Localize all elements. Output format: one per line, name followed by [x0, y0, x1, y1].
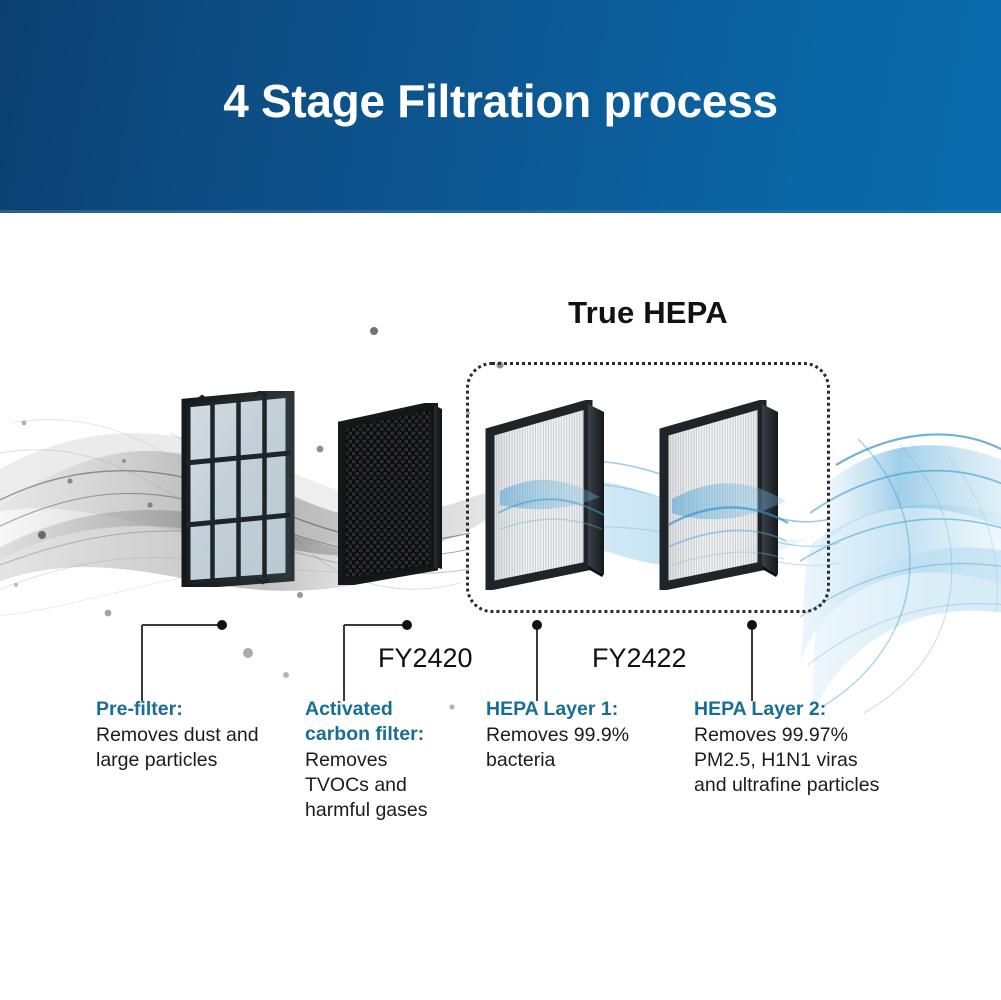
- blue-ribbons-outer: [800, 434, 1001, 719]
- pre-filter-panel: [176, 391, 300, 587]
- callout-title: HEPA Layer 2:: [694, 697, 894, 722]
- callout-title: Activated carbon filter:: [305, 697, 455, 747]
- part-code-fy2420: FY2420: [378, 643, 473, 674]
- page-title: 4 Stage Filtration process: [0, 78, 1001, 124]
- header-banner: 4 Stage Filtration process: [0, 0, 1001, 213]
- diagram-area: True HEPA: [0, 213, 1001, 1000]
- callout-pre-filter: Pre-filter: Removes dust and large parti…: [96, 697, 281, 773]
- leader-line-pre-filter: [140, 617, 250, 707]
- callout-body: Removes dust and large particles: [96, 723, 281, 773]
- callout-body: Removes 99.97% PM2.5, H1N1 viras and ult…: [694, 723, 894, 798]
- leader-line-hepa-layer-1: [532, 617, 552, 707]
- true-hepa-group-box: [466, 362, 830, 613]
- callout-hepa-layer-2: HEPA Layer 2: Removes 99.97% PM2.5, H1N1…: [694, 697, 894, 798]
- callout-body: Removes TVOCs and harmful gases: [305, 748, 455, 823]
- part-code-fy2422: FY2422: [592, 643, 687, 674]
- callout-hepa-layer-1: HEPA Layer 1: Removes 99.9% bacteria: [486, 697, 656, 773]
- callout-activated-carbon: Activated carbon filter: Removes TVOCs a…: [305, 697, 455, 823]
- callout-body: Removes 99.9% bacteria: [486, 723, 656, 773]
- filtration-infographic: 4 Stage Filtration process: [0, 0, 1001, 1000]
- leader-line-hepa-layer-2: [747, 617, 767, 707]
- true-hepa-label: True HEPA: [466, 295, 830, 331]
- callout-title: Pre-filter:: [96, 697, 281, 722]
- activated-carbon-filter-panel: [338, 403, 446, 585]
- callout-title: HEPA Layer 1:: [486, 697, 656, 722]
